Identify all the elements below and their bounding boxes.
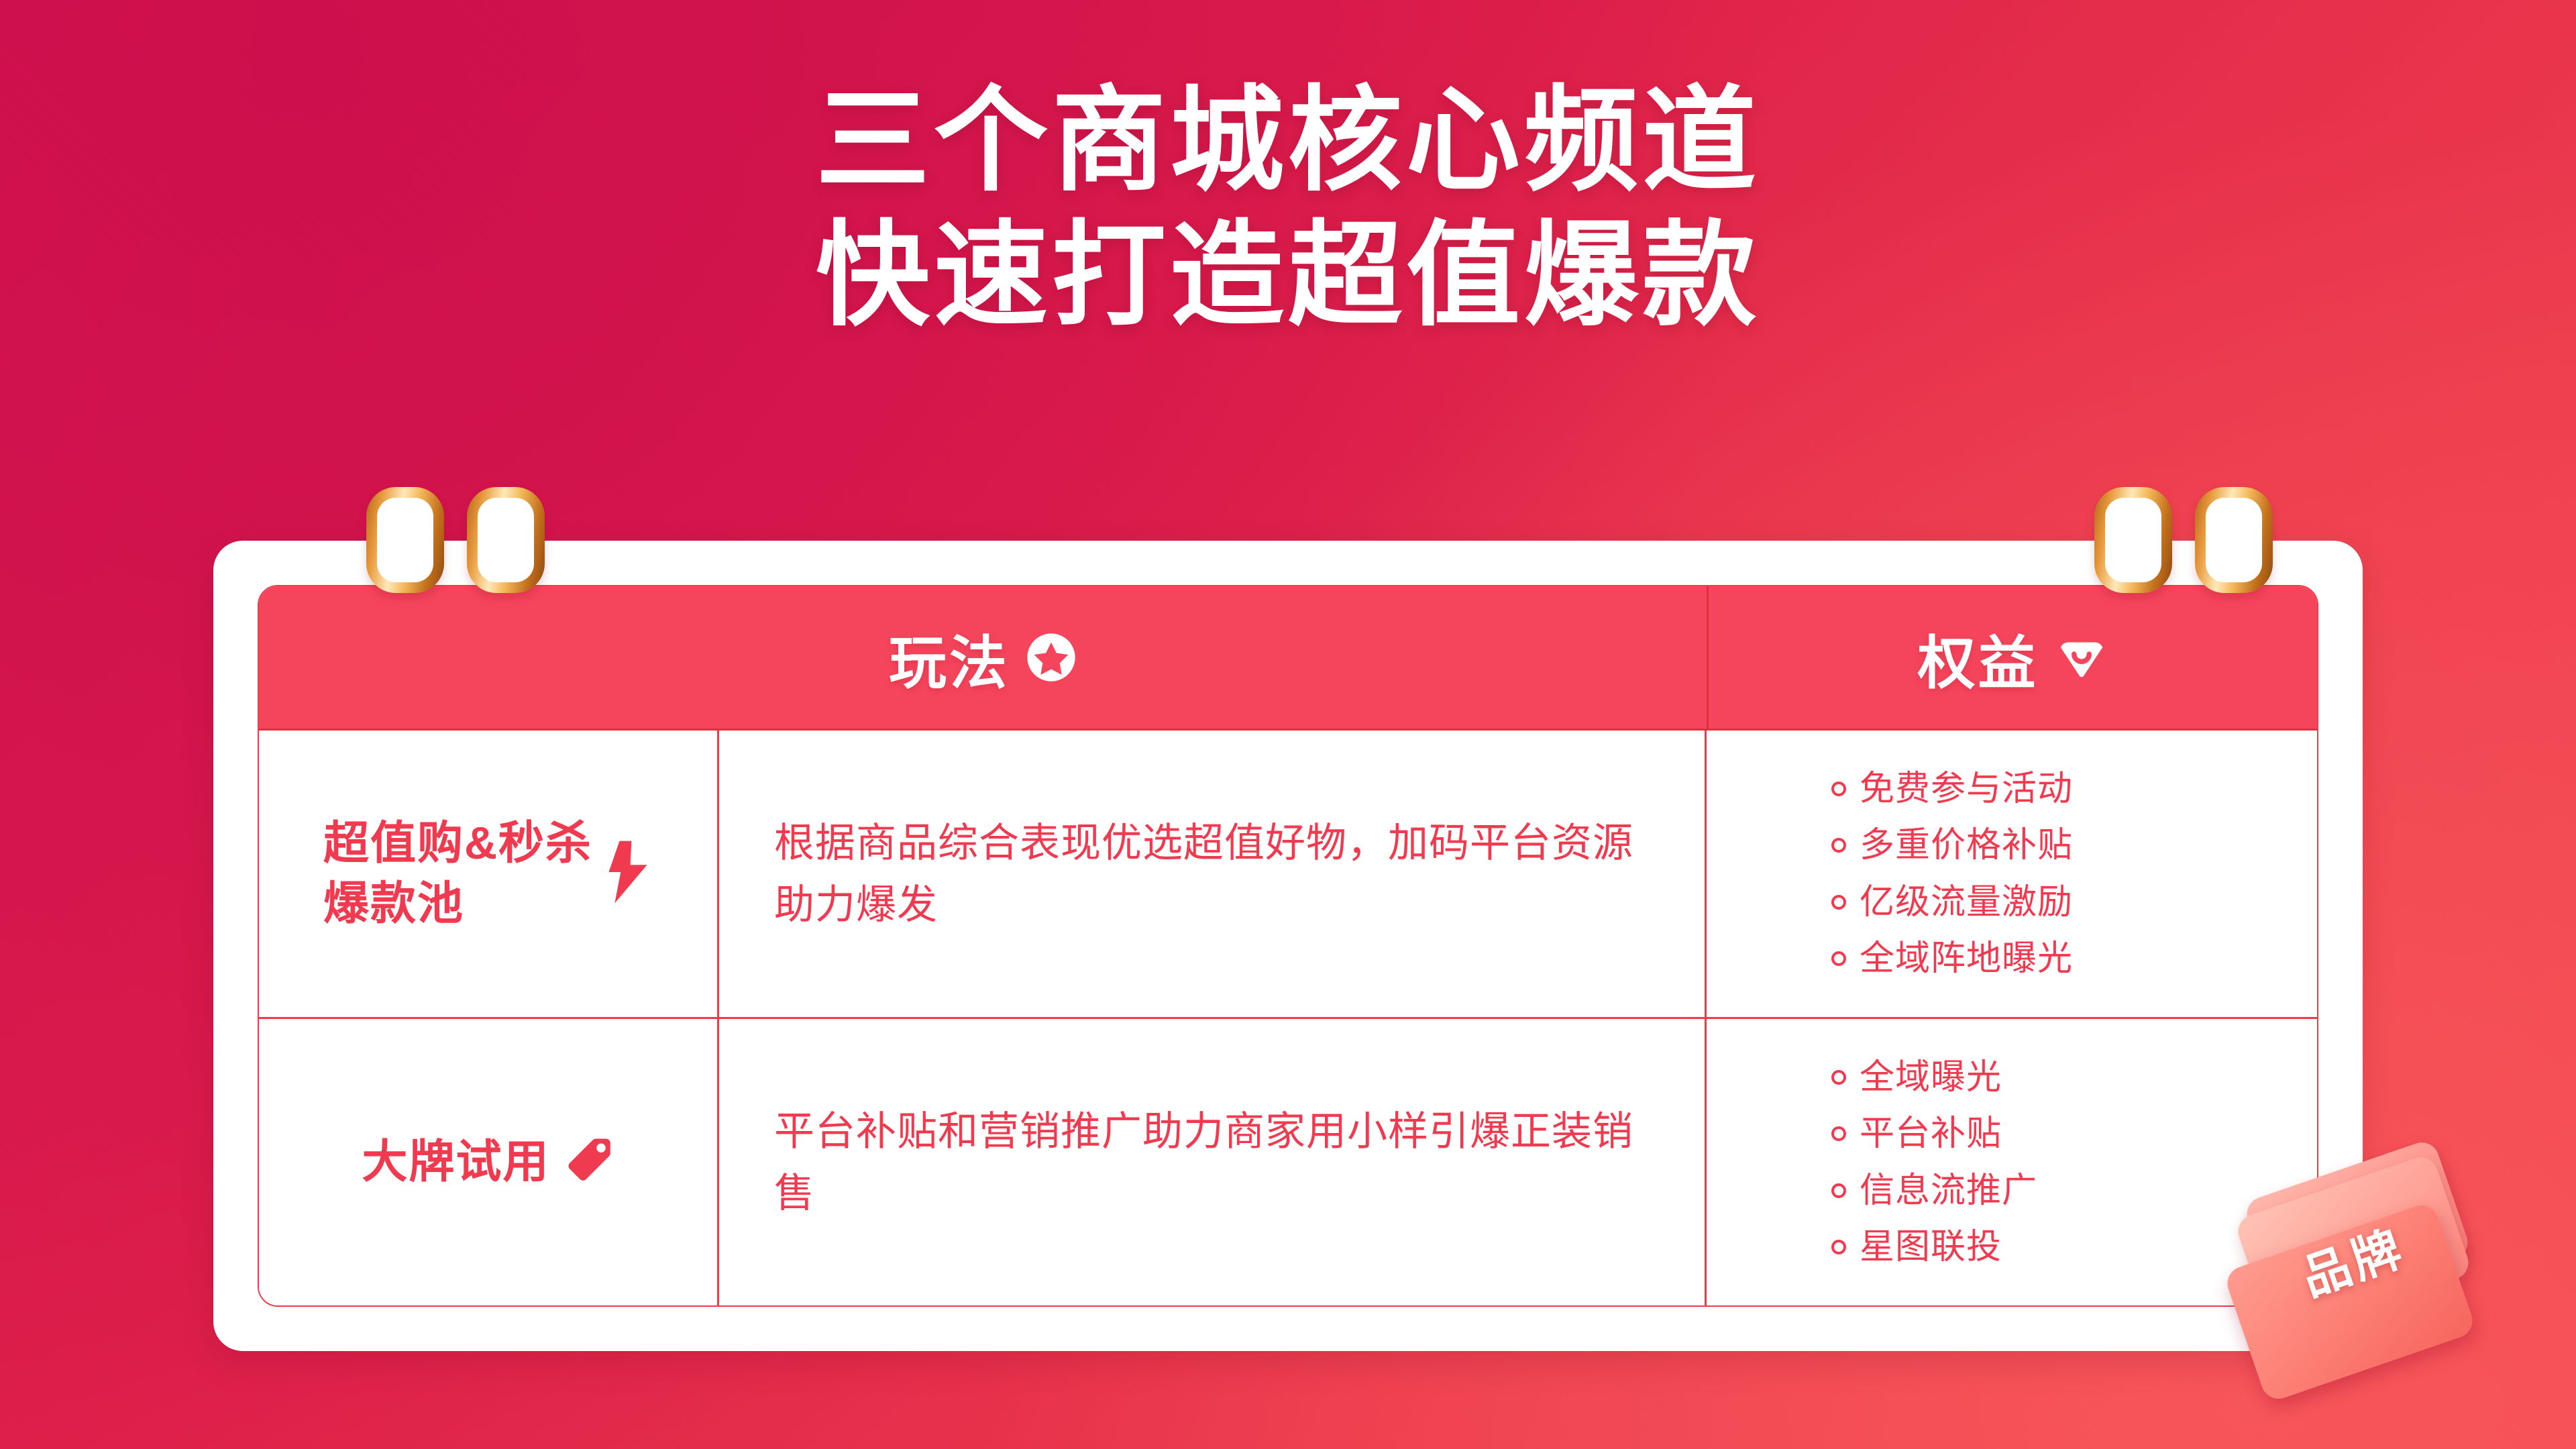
benefit-label: 免费参与活动 — [1860, 768, 2073, 810]
benefit-label: 信息流推广 — [1860, 1170, 2037, 1212]
title-line-1: 三个商城核心频道 — [0, 74, 2576, 209]
binder-rings-right — [2094, 487, 2273, 593]
benefit-label: 全域阵地曝光 — [1860, 938, 2073, 979]
table-header-play: 玩法 — [259, 586, 1709, 729]
table-row: 超值购&秒杀 爆款池 根据商品综合表现优选超值好物，加码平台资源助力爆发 — [259, 731, 2317, 1017]
bullet-circle-icon — [1831, 1126, 1846, 1141]
benefit-label: 星图联投 — [1860, 1226, 2002, 1268]
lightning-bolt-icon — [603, 839, 653, 909]
benefit-list-item: 免费参与活动 — [1831, 768, 2317, 810]
benefit-list-item: 多重价格补贴 — [1831, 824, 2317, 866]
benefit-label: 亿级流量激励 — [1860, 881, 2073, 923]
benefit-label: 多重价格补贴 — [1860, 824, 2073, 866]
benefit-list-item: 亿级流量激励 — [1831, 881, 2317, 923]
features-table: 玩法 权益 — [258, 585, 2318, 1307]
row-description: 平台补贴和营销推广助力商家用小样引爆正装销售 — [774, 1101, 1650, 1223]
benefit-list-item: 全域阵地曝光 — [1831, 938, 2317, 979]
binder-rings-left — [366, 487, 545, 593]
table-cell-description: 根据商品综合表现优选超值好物，加码平台资源助力爆发 — [719, 731, 1707, 1017]
benefit-list-item: 平台补贴 — [1831, 1113, 2317, 1155]
content-card: 玩法 权益 — [213, 541, 2363, 1351]
title-line-2: 快速打造超值爆款 — [0, 209, 2576, 343]
table-cell-benefits: 全域曝光 平台补贴 信息流推广 星图联投 — [1707, 1019, 2317, 1305]
row-name-label: 大牌试用 — [362, 1132, 549, 1193]
bullet-circle-icon — [1831, 951, 1846, 966]
table-header-benefit-label: 权益 — [1918, 616, 2039, 700]
row-name-label: 超值购&秒杀 爆款池 — [323, 814, 592, 934]
benefit-label: 全域曝光 — [1860, 1057, 2002, 1098]
price-tag-icon — [561, 1134, 614, 1191]
bullet-circle-icon — [1831, 838, 1846, 853]
table-cell-benefits: 免费参与活动 多重价格补贴 亿级流量激励 全域阵地曝光 — [1707, 731, 2317, 1017]
benefit-list-item: 全域曝光 — [1831, 1057, 2317, 1098]
brand-badge: 品牌 — [2238, 1152, 2520, 1421]
table-header-benefit: 权益 — [1709, 586, 2317, 729]
poster-canvas: 三个商城核心频道 快速打造超值爆款 玩法 — [0, 0, 2576, 1449]
binder-ring-icon — [2094, 487, 2172, 593]
table-header-row: 玩法 权益 — [259, 586, 2317, 731]
row-description: 根据商品综合表现优选超值好物，加码平台资源助力爆发 — [774, 812, 1650, 934]
bullet-circle-icon — [1831, 1240, 1846, 1254]
bullet-circle-icon — [1831, 895, 1846, 910]
benefit-label: 平台补贴 — [1860, 1113, 2002, 1155]
table-header-play-label: 玩法 — [889, 616, 1010, 700]
table-cell-name: 超值购&秒杀 爆款池 — [259, 731, 719, 1017]
binder-ring-icon — [467, 487, 545, 593]
bullet-circle-icon — [1831, 1183, 1846, 1198]
bullet-circle-icon — [1831, 1070, 1846, 1085]
table-cell-description: 平台补贴和营销推广助力商家用小样引爆正装销售 — [719, 1019, 1707, 1305]
star-icon — [1026, 632, 1077, 683]
bullet-circle-icon — [1831, 782, 1846, 796]
gem-heart-icon — [2055, 631, 2108, 684]
binder-ring-icon — [366, 487, 444, 593]
binder-ring-icon — [2195, 487, 2273, 593]
table-row: 大牌试用 平台补贴和营销推广助力商家用小样引爆正装销售 — [259, 1017, 2317, 1305]
page-title: 三个商城核心频道 快速打造超值爆款 — [0, 74, 2576, 343]
table-cell-name: 大牌试用 — [259, 1019, 719, 1305]
